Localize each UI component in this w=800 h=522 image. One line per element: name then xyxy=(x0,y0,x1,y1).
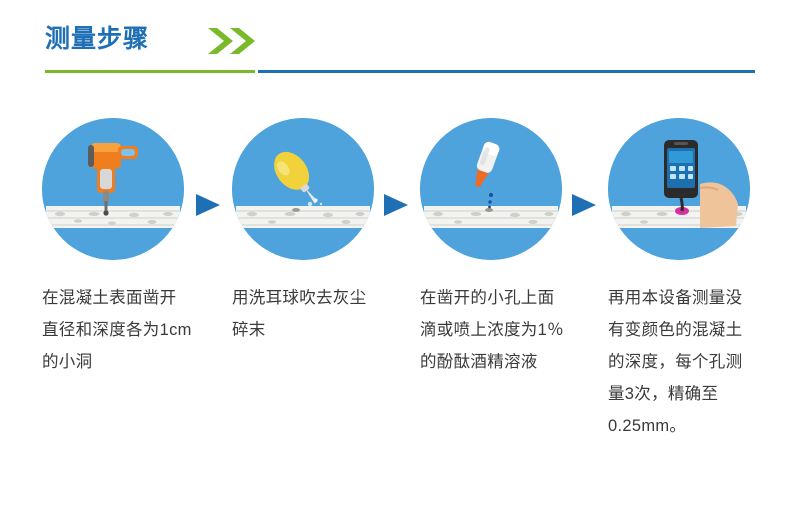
step-2: 用洗耳球吹去灰尘碎末 xyxy=(232,118,388,346)
step-4: 再用本设备测量没有变颜色的混凝土的深度，每个孔测量3次，精确至0.25mm。 xyxy=(608,118,764,442)
arrow-right-icon-2 xyxy=(384,194,410,216)
steps-row: 在混凝土表面凿开直径和深度各为1cm的小洞 xyxy=(0,118,800,518)
step-2-caption: 用洗耳球吹去灰尘碎末 xyxy=(232,282,382,346)
measurement-steps-page: 测量步骤 xyxy=(0,0,800,522)
page-header: 测量步骤 xyxy=(45,22,755,82)
handheld-meter-icon xyxy=(608,118,750,260)
dropper-bottle-icon xyxy=(420,118,562,260)
page-title: 测量步骤 xyxy=(45,22,149,56)
header-rule-green xyxy=(45,70,255,73)
header-rule-blue xyxy=(258,70,755,73)
step-1-caption: 在混凝土表面凿开直径和深度各为1cm的小洞 xyxy=(42,282,192,378)
rubber-blower-icon xyxy=(232,118,374,260)
step-3: 在凿开的小孔上面滴或喷上浓度为1％的酚酞酒精溶液 xyxy=(420,118,576,378)
arrow-right-icon-1 xyxy=(196,194,222,216)
step-4-caption: 再用本设备测量没有变颜色的混凝土的深度，每个孔测量3次，精确至0.25mm。 xyxy=(608,282,758,442)
drill-on-concrete-icon xyxy=(42,118,184,260)
step-3-caption: 在凿开的小孔上面滴或喷上浓度为1％的酚酞酒精溶液 xyxy=(420,282,570,378)
step-1: 在混凝土表面凿开直径和深度各为1cm的小洞 xyxy=(42,118,198,378)
double-chevron-right-icon xyxy=(208,28,262,54)
arrow-right-icon-3 xyxy=(572,194,598,216)
